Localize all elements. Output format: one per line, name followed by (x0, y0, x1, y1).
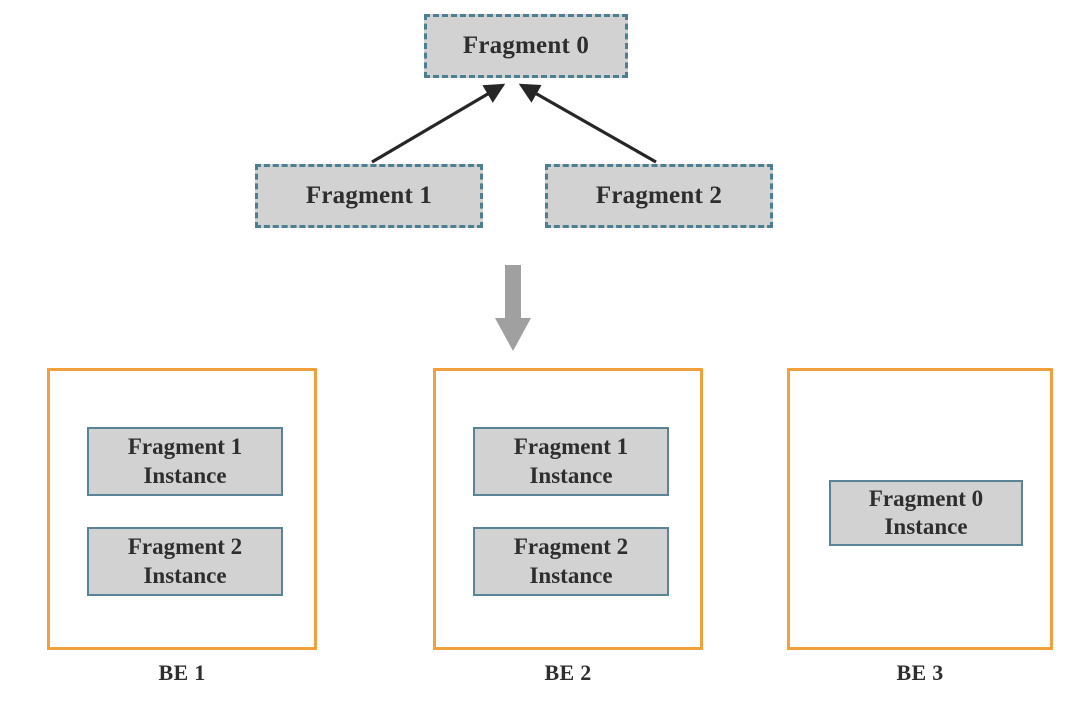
fragment-box-1: Fragment 1 (255, 164, 483, 228)
instance-label-line2: Instance (143, 462, 226, 490)
fragment-box-2-label: Fragment 2 (596, 182, 722, 210)
instance-label-line1: Fragment 2 (514, 533, 628, 561)
diagram-canvas: Fragment 0 Fragment 1 Fragment 2 Fragmen… (0, 0, 1080, 711)
instance-label-line1: Fragment 1 (514, 433, 628, 461)
instance-label-line1: Fragment 1 (128, 433, 242, 461)
instance-label-line2: Instance (884, 513, 967, 541)
backend-box-2: Fragment 1 Instance Fragment 2 Instance (433, 368, 703, 650)
fragment-box-1-label: Fragment 1 (306, 182, 432, 210)
instance-label-line1: Fragment 2 (128, 533, 242, 561)
arrow-fragment2-to-fragment0 (521, 85, 656, 162)
backend-caption-3: BE 3 (787, 660, 1053, 686)
instance-label-line2: Instance (143, 562, 226, 590)
instance-label-line2: Instance (529, 562, 612, 590)
backend-caption-1: BE 1 (47, 660, 317, 686)
fragment-box-0-label: Fragment 0 (463, 32, 589, 60)
instance-box-be2-0: Fragment 1 Instance (473, 427, 669, 496)
backend-caption-2: BE 2 (433, 660, 703, 686)
fragment-box-2: Fragment 2 (545, 164, 773, 228)
fragment-box-0: Fragment 0 (424, 14, 628, 78)
backend-group-2: Fragment 1 Instance Fragment 2 Instance … (433, 368, 703, 688)
backend-group-3: Fragment 0 Instance BE 3 (787, 368, 1053, 688)
instance-box-be1-0: Fragment 1 Instance (87, 427, 283, 496)
instance-label-line1: Fragment 0 (869, 485, 983, 513)
backend-group-1: Fragment 1 Instance Fragment 2 Instance … (47, 368, 317, 688)
distribution-arrow-icon (495, 265, 531, 351)
instance-box-be3-0: Fragment 0 Instance (829, 480, 1023, 546)
backend-box-3: Fragment 0 Instance (787, 368, 1053, 650)
arrow-fragment1-to-fragment0 (372, 85, 503, 162)
backend-box-1: Fragment 1 Instance Fragment 2 Instance (47, 368, 317, 650)
instance-box-be1-1: Fragment 2 Instance (87, 527, 283, 596)
instance-box-be2-1: Fragment 2 Instance (473, 527, 669, 596)
instance-label-line2: Instance (529, 462, 612, 490)
